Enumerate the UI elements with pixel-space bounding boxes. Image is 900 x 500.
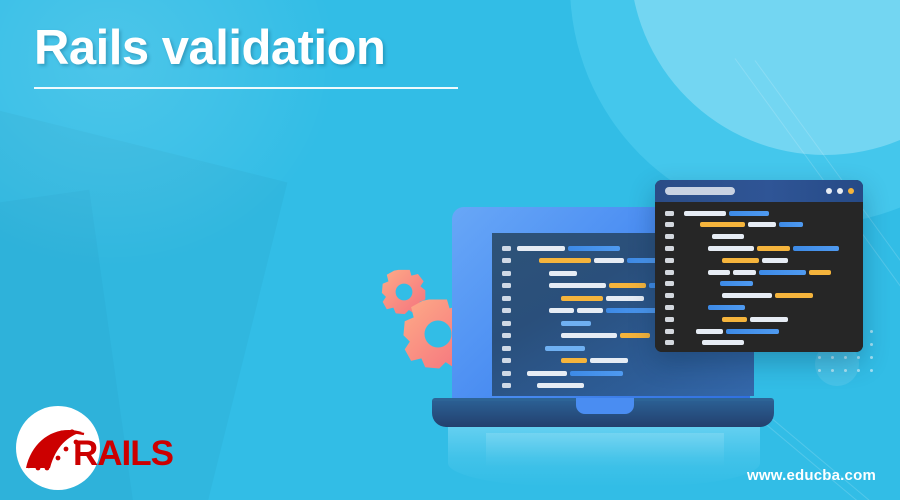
- line-number-marker: [665, 293, 674, 298]
- code-token: [561, 296, 603, 301]
- title-underline: [34, 87, 458, 89]
- code-tokens: [720, 281, 753, 286]
- code-window-controls[interactable]: [826, 188, 854, 194]
- code-token: [517, 246, 565, 251]
- code-token: [708, 270, 730, 275]
- decorative-dot: [870, 343, 873, 346]
- code-token: [568, 246, 620, 251]
- line-number-marker: [665, 234, 674, 239]
- line-number-marker: [502, 308, 511, 313]
- decorative-dot: [818, 356, 821, 359]
- code-line: [665, 269, 831, 275]
- code-line: [502, 295, 644, 301]
- code-token: [684, 211, 726, 216]
- decorative-dot: [818, 369, 821, 372]
- line-number-marker: [665, 222, 674, 227]
- code-tokens: [722, 293, 813, 298]
- banner-canvas: Rails validation: [0, 0, 900, 500]
- code-token: [606, 308, 662, 313]
- code-token: [696, 329, 723, 334]
- code-token: [702, 340, 744, 345]
- line-number-marker: [665, 340, 674, 345]
- code-line: [502, 370, 623, 376]
- decorative-dot: [870, 369, 873, 372]
- code-tokens: [545, 346, 585, 351]
- code-line: [665, 222, 803, 228]
- code-editor-window[interactable]: [655, 180, 863, 352]
- decorative-dot: [844, 356, 847, 359]
- code-token: [594, 258, 624, 263]
- line-number-marker: [665, 246, 674, 251]
- line-number-marker: [502, 271, 511, 276]
- code-token: [620, 333, 650, 338]
- line-number-marker: [502, 246, 511, 251]
- code-window-body: [655, 202, 863, 352]
- code-line: [665, 281, 753, 287]
- code-line: [665, 257, 788, 263]
- code-tokens: [708, 270, 831, 275]
- code-line: [502, 333, 650, 339]
- code-token: [720, 281, 753, 286]
- code-token: [708, 246, 754, 251]
- line-number-marker: [665, 317, 674, 322]
- code-tokens: [561, 358, 628, 363]
- decorative-dot: [870, 356, 873, 359]
- code-token: [561, 321, 591, 326]
- code-token: [561, 358, 587, 363]
- code-tokens: [702, 340, 744, 345]
- code-token: [757, 246, 790, 251]
- code-line: [665, 293, 813, 299]
- code-token: [561, 333, 617, 338]
- laptop-reflection-highlight: [486, 433, 724, 467]
- line-number-marker: [502, 258, 511, 263]
- code-token: [627, 258, 657, 263]
- code-token: [545, 346, 585, 351]
- code-token: [549, 271, 577, 276]
- code-token: [708, 305, 745, 310]
- code-token: [759, 270, 806, 275]
- code-tokens: [722, 258, 788, 263]
- minimize-dot-icon[interactable]: [826, 188, 832, 194]
- decorative-dot: [831, 356, 834, 359]
- decorative-dot: [870, 330, 873, 333]
- code-token: [729, 211, 769, 216]
- title-block: Rails validation: [34, 22, 554, 89]
- code-token: [722, 317, 747, 322]
- code-tokens: [561, 321, 591, 326]
- maximize-dot-icon[interactable]: [837, 188, 843, 194]
- code-token: [570, 371, 623, 376]
- code-token: [537, 383, 584, 388]
- code-token: [549, 283, 606, 288]
- line-number-marker: [502, 321, 511, 326]
- code-line: [502, 358, 628, 364]
- code-token: [722, 258, 759, 263]
- code-token: [606, 296, 644, 301]
- line-number-marker: [502, 371, 511, 376]
- code-line: [665, 340, 744, 346]
- code-token: [762, 258, 788, 263]
- code-token: [726, 329, 779, 334]
- line-number-marker: [665, 270, 674, 275]
- code-tokens: [708, 305, 745, 310]
- code-token: [722, 293, 772, 298]
- code-token: [700, 222, 745, 227]
- code-line: [665, 316, 788, 322]
- code-token: [775, 293, 813, 298]
- decorative-dot: [844, 369, 847, 372]
- code-tokens: [561, 296, 644, 301]
- code-token: [712, 234, 744, 239]
- line-number-marker: [502, 383, 511, 388]
- code-window-tab[interactable]: [665, 187, 735, 195]
- decorative-dot: [857, 356, 860, 359]
- code-token: [809, 270, 831, 275]
- line-number-marker: [665, 329, 674, 334]
- code-tokens: [517, 246, 620, 251]
- decorative-dot: [831, 369, 834, 372]
- code-line: [502, 320, 591, 326]
- code-token: [609, 283, 646, 288]
- rails-logo: RAILS: [16, 404, 186, 496]
- decorative-dot: [857, 369, 860, 372]
- code-tokens: [684, 211, 769, 216]
- code-line: [502, 270, 577, 276]
- code-line: [665, 234, 744, 240]
- code-token: [577, 308, 603, 313]
- code-line: [502, 383, 584, 389]
- code-tokens: [696, 329, 779, 334]
- code-window-listing: [655, 202, 863, 352]
- code-window-titlebar[interactable]: [655, 180, 863, 202]
- line-number-marker: [502, 333, 511, 338]
- line-number-marker: [502, 358, 511, 363]
- code-token: [748, 222, 776, 227]
- code-tokens: [539, 258, 657, 263]
- code-tokens: [700, 222, 803, 227]
- code-token: [779, 222, 803, 227]
- code-line: [665, 245, 839, 251]
- code-line: [665, 328, 779, 334]
- line-number-marker: [502, 296, 511, 301]
- code-tokens: [712, 234, 744, 239]
- code-token: [539, 258, 591, 263]
- code-tokens: [549, 271, 577, 276]
- line-number-marker: [665, 211, 674, 216]
- code-tokens: [708, 246, 839, 251]
- code-token: [527, 371, 567, 376]
- laptop-trackpad-notch: [576, 398, 634, 414]
- code-token: [793, 246, 839, 251]
- code-token: [750, 317, 788, 322]
- code-token: [733, 270, 756, 275]
- code-line: [502, 245, 620, 251]
- rails-wordmark: RAILS: [73, 434, 173, 474]
- code-tokens: [527, 371, 623, 376]
- code-token: [590, 358, 628, 363]
- code-line: [502, 258, 657, 264]
- code-line: [665, 210, 769, 216]
- code-tokens: [561, 333, 650, 338]
- page-title: Rails validation: [34, 22, 554, 75]
- code-token: [549, 308, 574, 313]
- line-number-marker: [502, 346, 511, 351]
- line-number-marker: [502, 283, 511, 288]
- line-number-marker: [665, 258, 674, 263]
- code-line: [665, 304, 745, 310]
- code-tokens: [722, 317, 788, 322]
- line-number-marker: [665, 281, 674, 286]
- close-dot-icon[interactable]: [848, 188, 854, 194]
- code-tokens: [537, 383, 584, 388]
- site-url: www.educba.com: [747, 467, 876, 484]
- code-line: [502, 345, 585, 351]
- line-number-marker: [665, 305, 674, 310]
